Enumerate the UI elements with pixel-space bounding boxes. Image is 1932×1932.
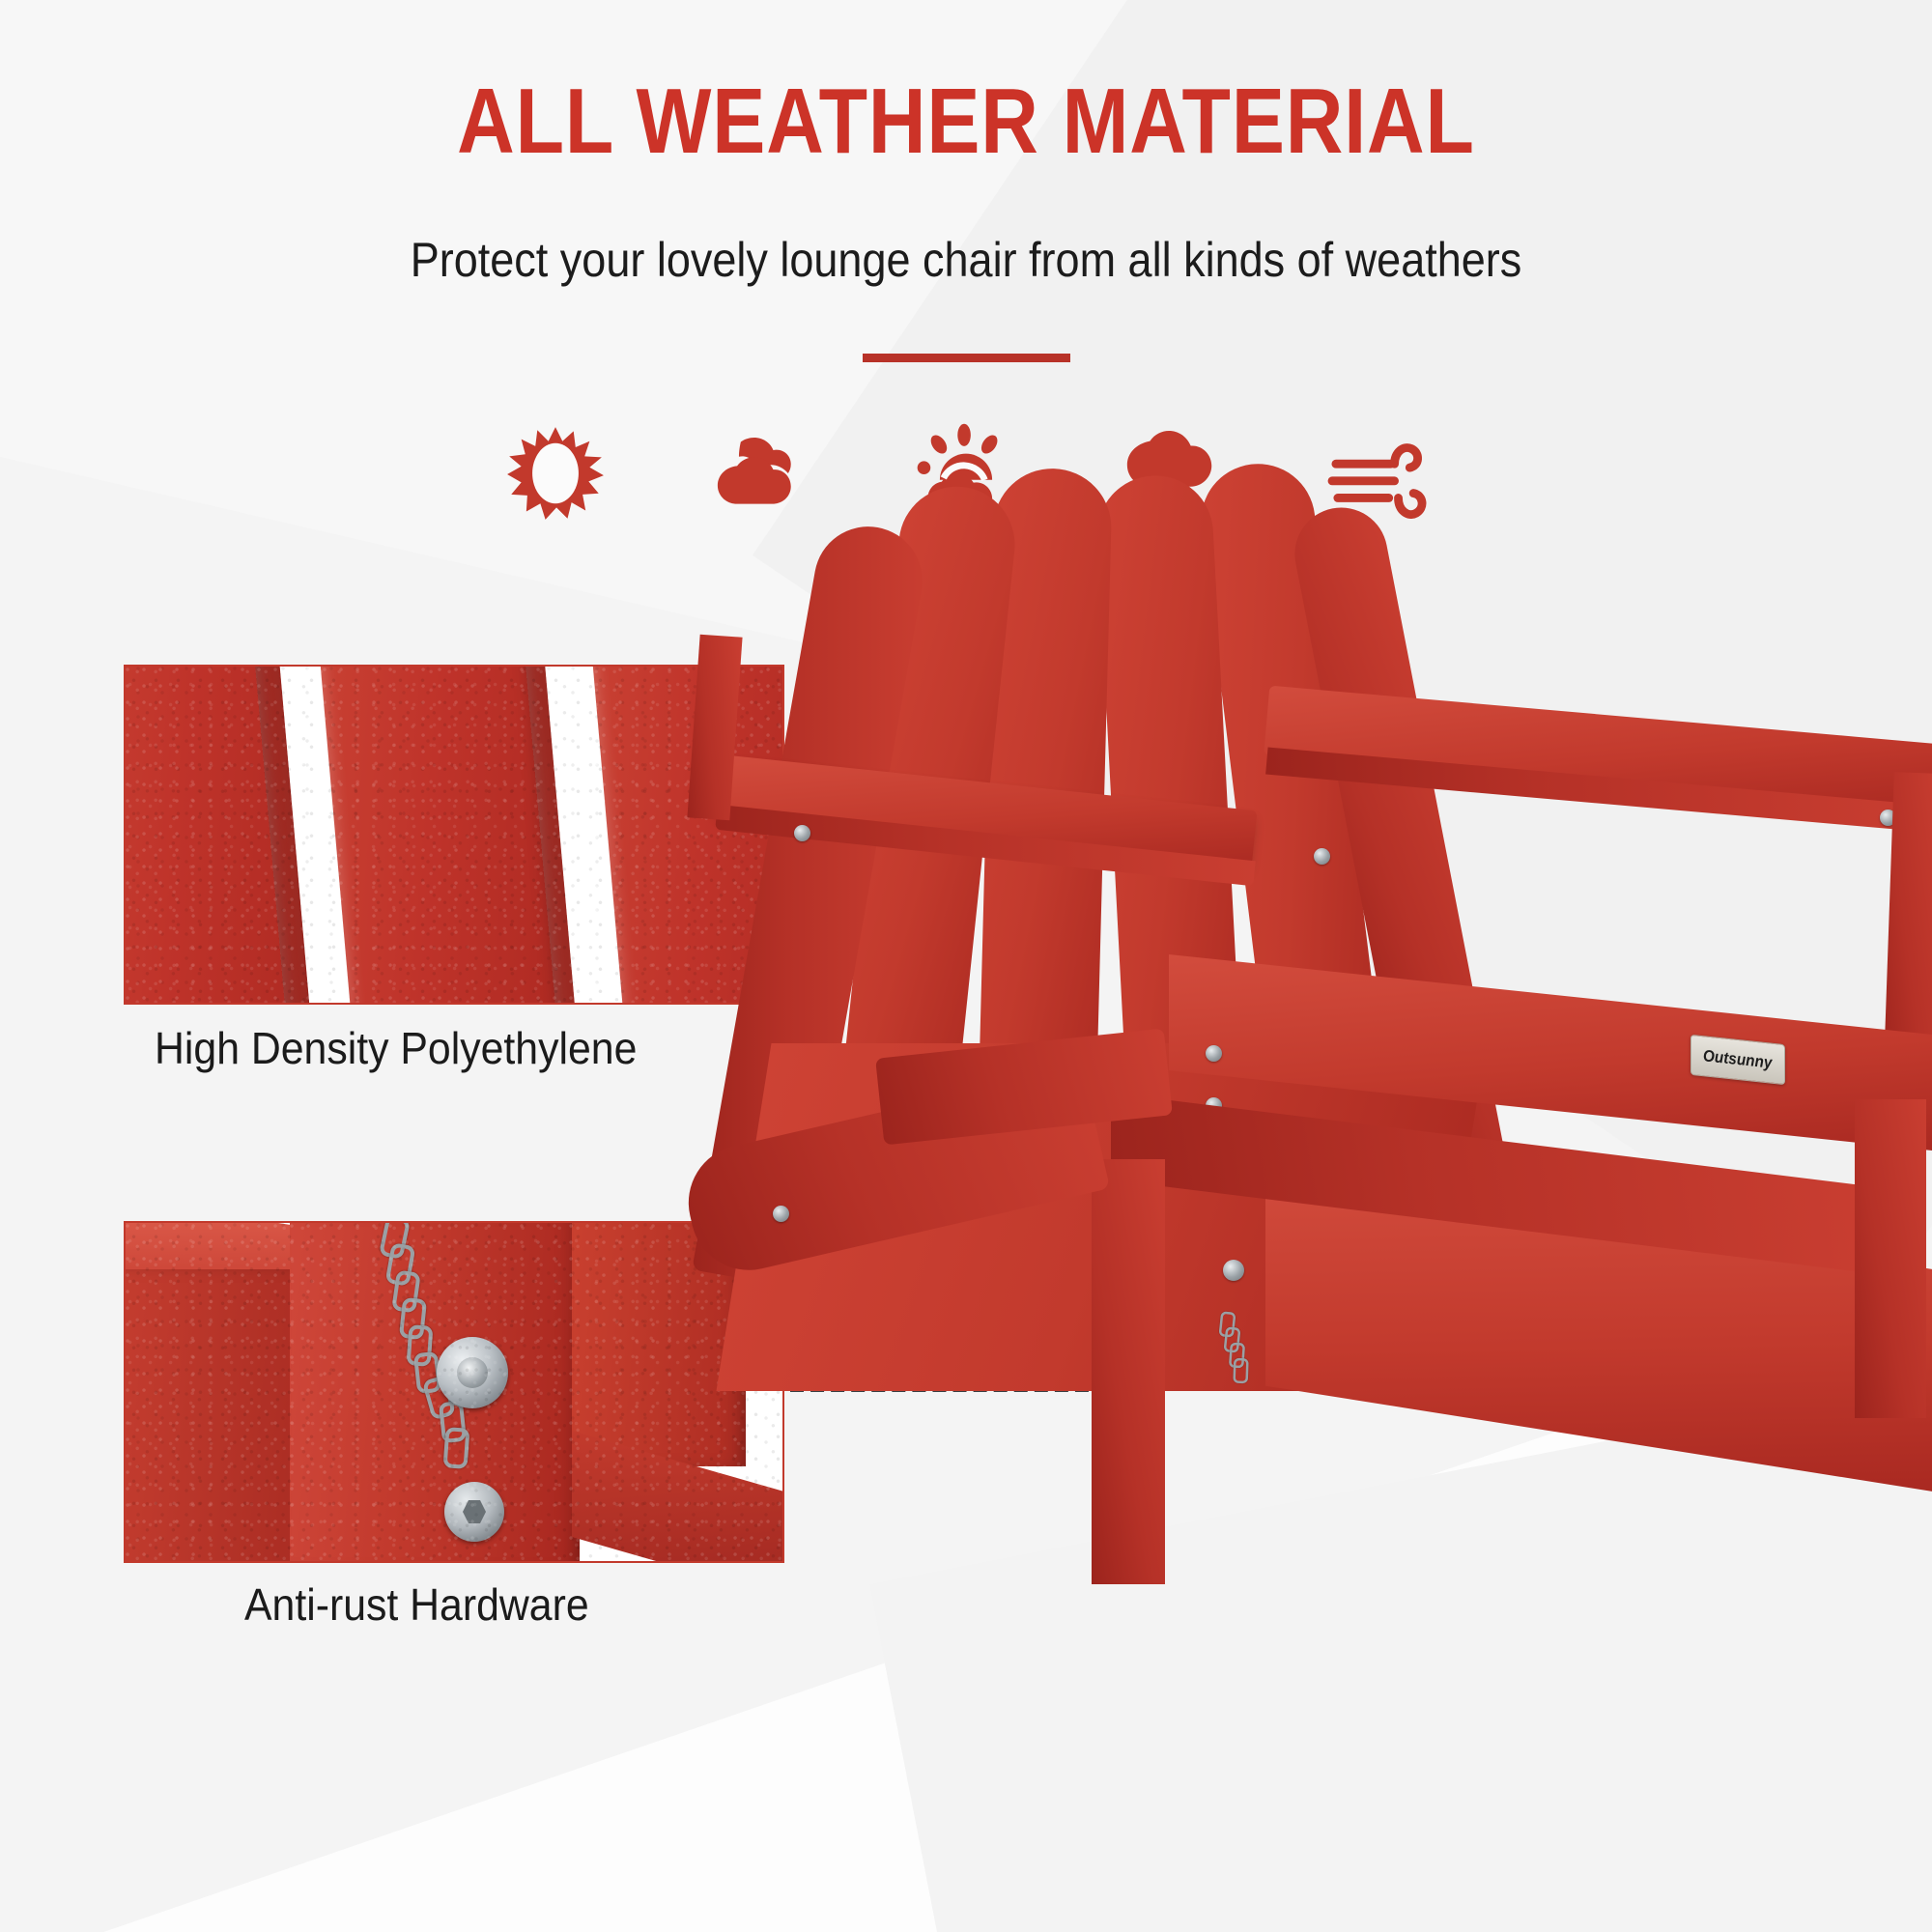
front-leg-near [1092, 1159, 1165, 1584]
title-divider-rule [863, 354, 1070, 362]
page-title: ALL WEATHER MATERIAL [135, 73, 1797, 171]
apron-screw-1 [1206, 1045, 1222, 1062]
callout-hardware-photo [124, 1221, 784, 1563]
callout-hdpe-photo [124, 665, 784, 1005]
hex-screw [444, 1482, 504, 1542]
callout-caption-hdpe: High Density Polyethylene [155, 1022, 637, 1074]
armrest-screw-2 [1314, 848, 1330, 865]
armrest-screw-1 [794, 825, 810, 841]
infographic-canvas: ALL WEATHER MATERIAL Protect your lovely… [0, 0, 1932, 1932]
callout-caption-hardware: Anti-rust Hardware [244, 1578, 589, 1631]
brand-plate-label: Outsunny [1703, 1046, 1772, 1073]
hinge-bolt [1223, 1260, 1244, 1281]
washer-bolt [437, 1337, 508, 1408]
sun-icon [493, 415, 618, 531]
front-leg-far [1855, 1099, 1926, 1418]
chair-chain-link-4 [1233, 1358, 1248, 1384]
cloudy-icon [698, 415, 824, 531]
page-subtitle: Protect your lovely lounge chair from al… [97, 232, 1835, 288]
product-image-adirondack-chair: Outsunny [947, 541, 1932, 1932]
runner-screw [773, 1206, 789, 1222]
